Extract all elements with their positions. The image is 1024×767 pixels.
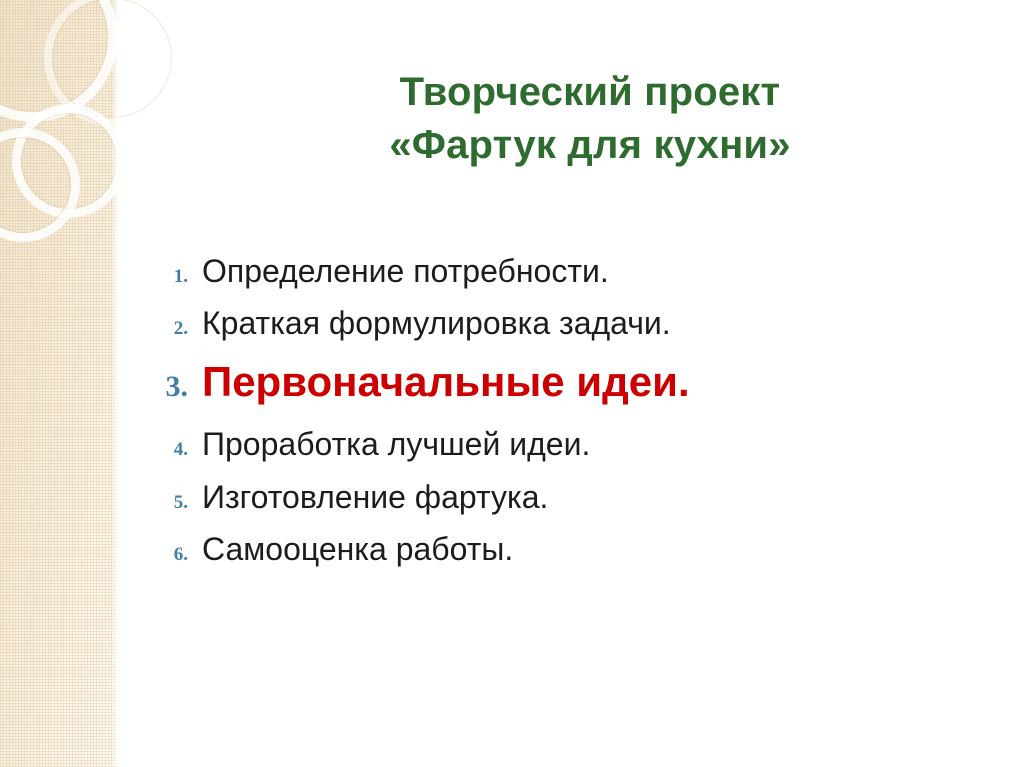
presentation-slide: Творческий проект «Фартук для кухни» 1. …: [0, 0, 1024, 767]
list-item-number: 6.: [130, 544, 202, 566]
list-item-label: Проработка лучшей идеи.: [202, 425, 590, 463]
list-item: 1. Определение потребности.: [130, 252, 1010, 290]
list-item-label: Изготовление фартука.: [202, 478, 548, 516]
decorative-left-band: [0, 0, 118, 767]
list-item-label: Первоначальные идеи.: [202, 357, 690, 407]
list-item-label: Краткая формулировка задачи.: [202, 304, 671, 342]
list-item-label: Определение потребности.: [202, 252, 609, 290]
list-item-highlighted: 3. Первоначальные идеи.: [130, 357, 1010, 407]
list-item: 4. Проработка лучшей идеи.: [130, 425, 1010, 463]
list-item-number: 5.: [130, 492, 202, 514]
list-item: 5. Изготовление фартука.: [130, 478, 1010, 516]
agenda-list: 1. Определение потребности. 2. Краткая ф…: [130, 252, 1010, 582]
slide-title-line-1: Творческий проект: [140, 66, 1000, 119]
list-item-number: 2.: [130, 318, 202, 340]
list-item-number: 3.: [130, 370, 202, 404]
decorative-band-fade: [112, 0, 118, 767]
list-item: 2. Краткая формулировка задачи.: [130, 304, 1010, 342]
list-item: 6. Самооценка работы.: [130, 530, 1010, 568]
list-item-number: 1.: [130, 266, 202, 288]
slide-title-line-2: «Фартук для кухни»: [140, 119, 1000, 172]
list-item-label: Самооценка работы.: [202, 530, 513, 568]
list-item-number: 4.: [130, 439, 202, 461]
slide-title: Творческий проект «Фартук для кухни»: [140, 66, 1000, 172]
